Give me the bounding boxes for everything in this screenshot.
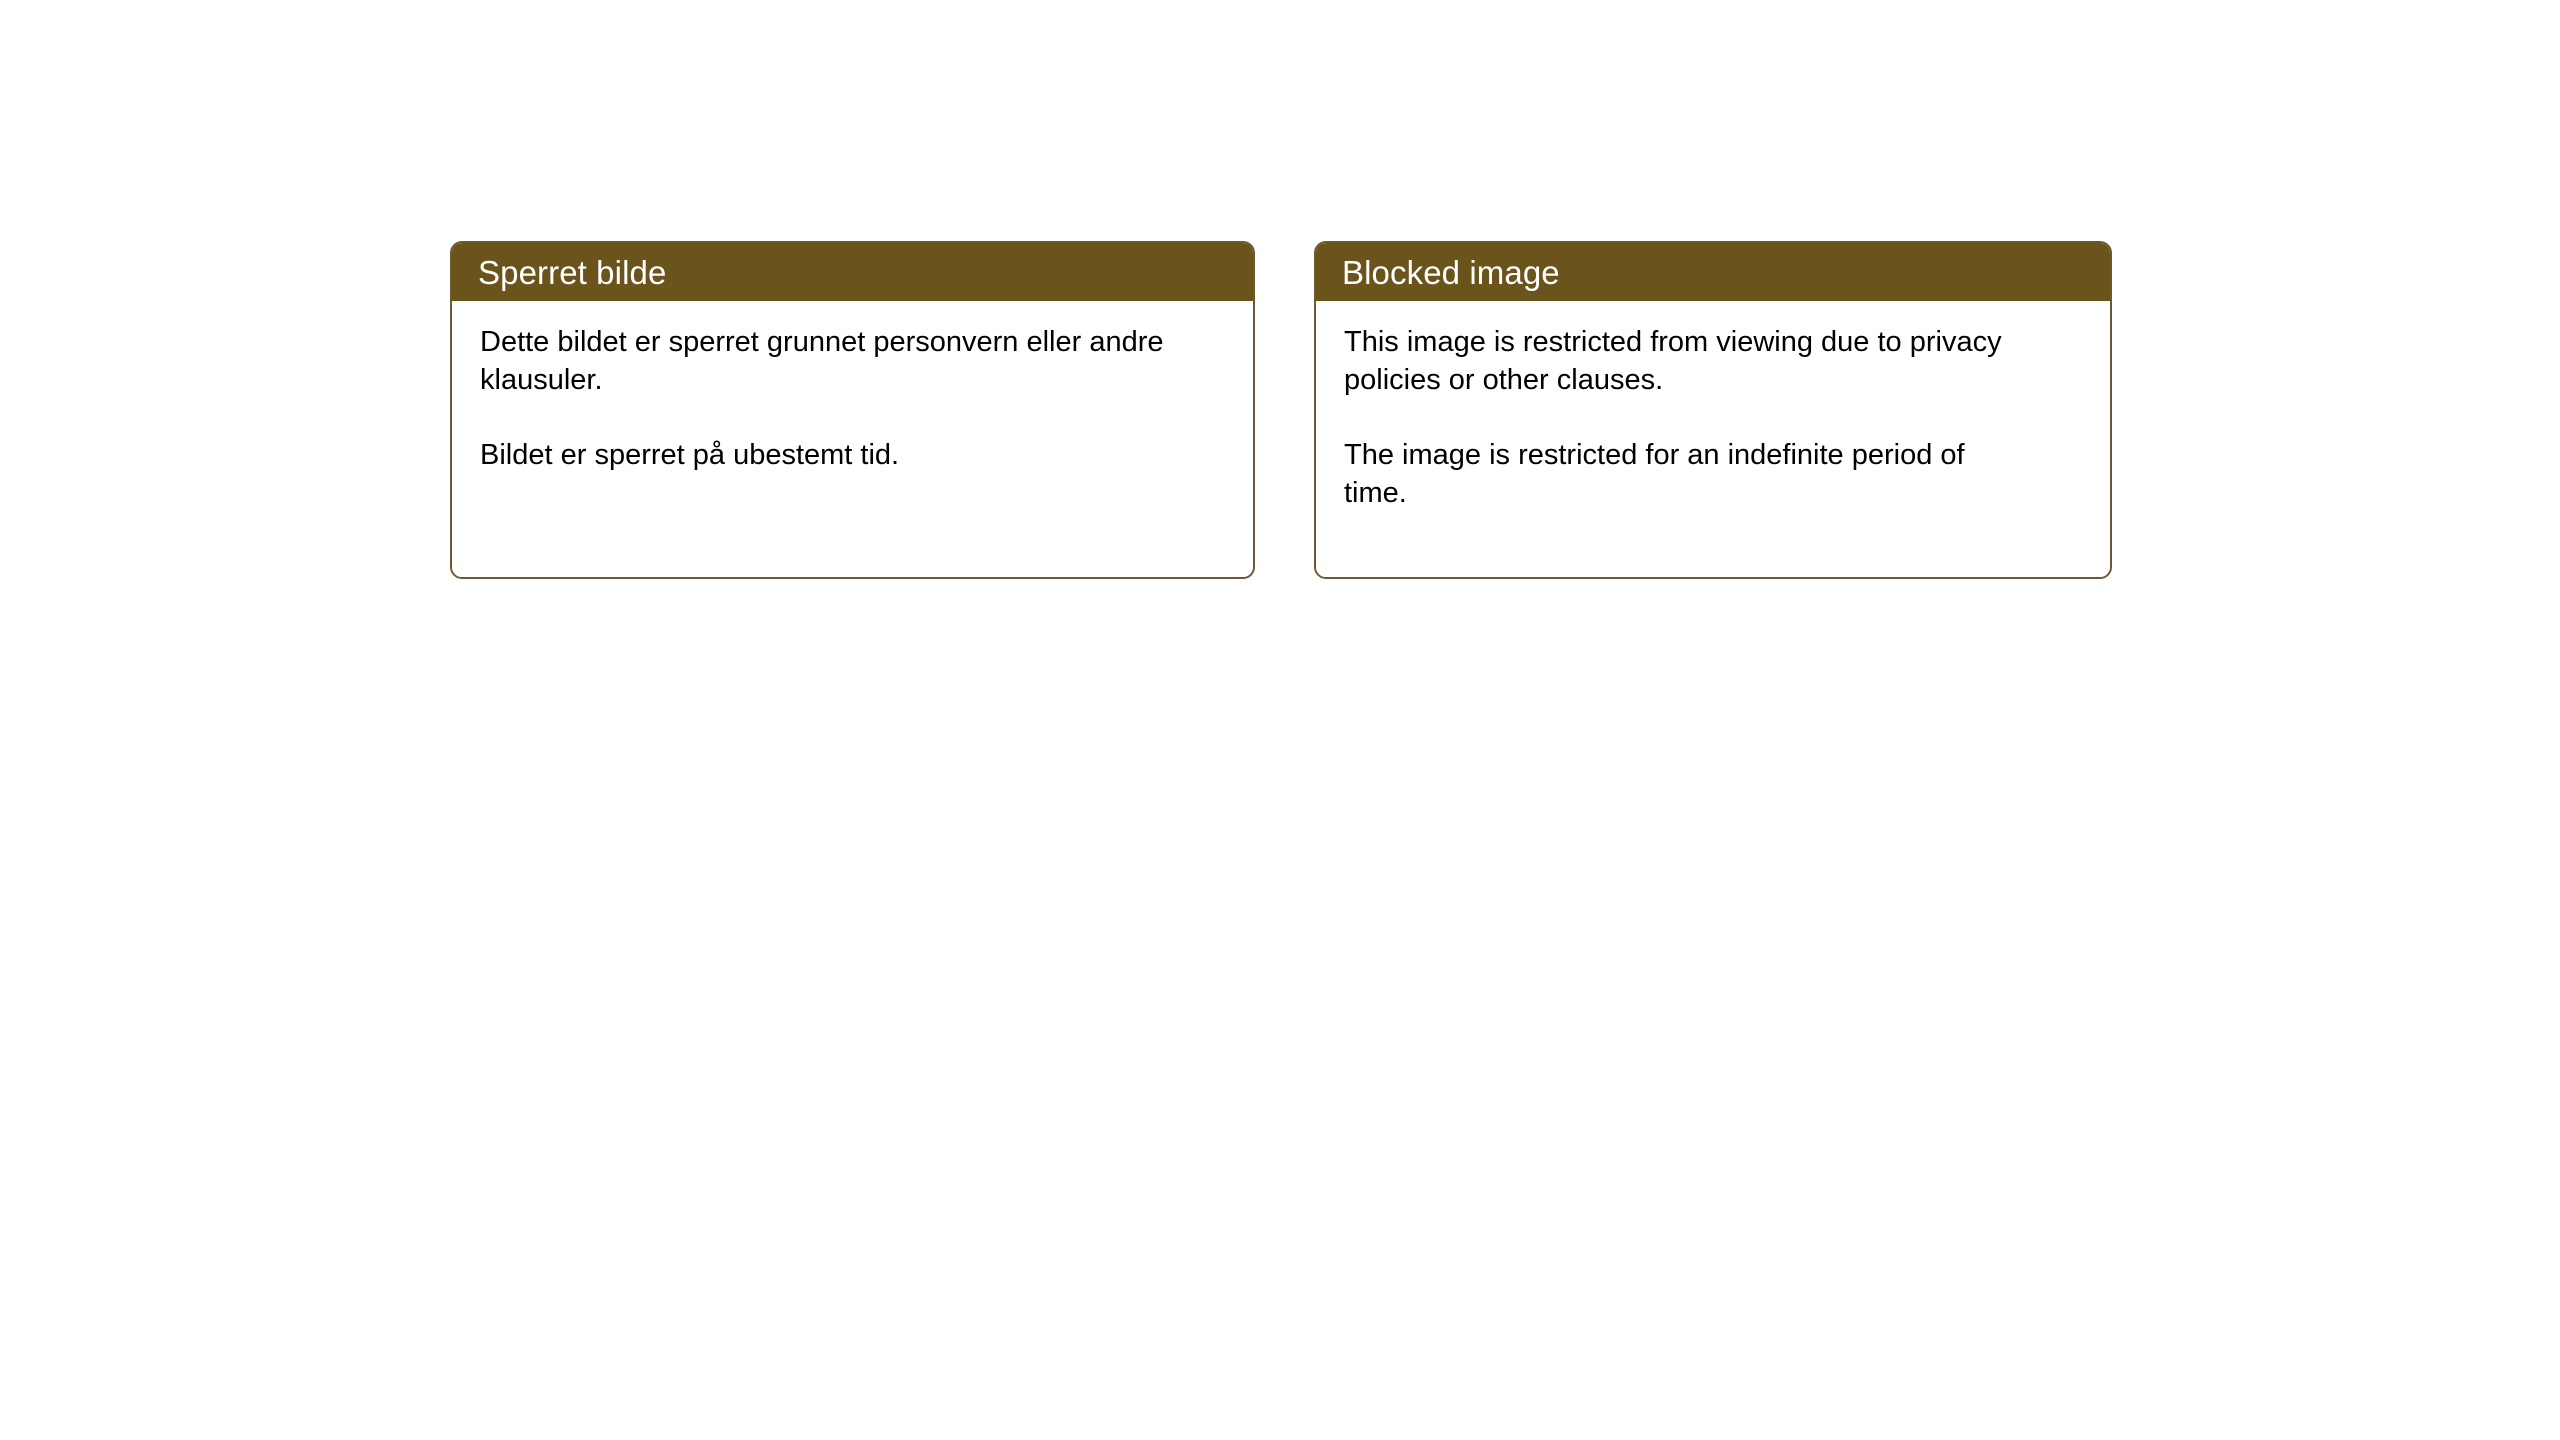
card-paragraph-duration-norwegian: Bildet er sperret på ubestemt tid. — [480, 436, 1180, 474]
card-body-norwegian: Dette bildet er sperret grunnet personve… — [452, 301, 1253, 577]
card-title-english: Blocked image — [1342, 256, 1560, 289]
card-paragraph-duration-english: The image is restricted for an indefinit… — [1344, 436, 2034, 513]
card-header-english: Blocked image — [1316, 243, 2110, 301]
card-body-english: This image is restricted from viewing du… — [1316, 301, 2110, 577]
card-header-norwegian: Sperret bilde — [452, 243, 1253, 301]
blocked-image-card-english: Blocked image This image is restricted f… — [1314, 241, 2112, 579]
card-paragraph-reason-english: This image is restricted from viewing du… — [1344, 323, 2034, 400]
blocked-image-card-norwegian: Sperret bilde Dette bildet er sperret gr… — [450, 241, 1255, 579]
card-title-norwegian: Sperret bilde — [478, 256, 666, 289]
page-root: { "page": { "background_color": "#ffffff… — [0, 0, 2560, 1440]
card-paragraph-reason-norwegian: Dette bildet er sperret grunnet personve… — [480, 323, 1180, 400]
blocked-image-notice-group: Sperret bilde Dette bildet er sperret gr… — [450, 241, 2112, 579]
